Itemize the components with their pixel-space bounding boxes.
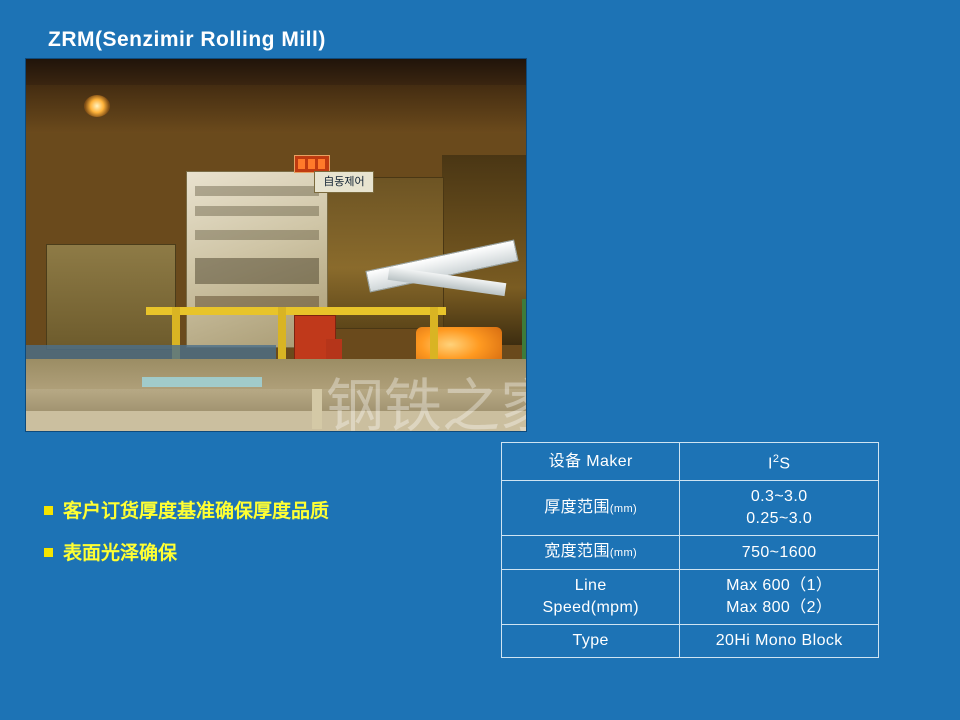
cell-text-line1: Line bbox=[506, 575, 675, 597]
bullet-marker-icon bbox=[44, 506, 53, 515]
table-cell-value: Max 600（1） Max 800（2） bbox=[680, 570, 879, 625]
table-cell-label: 设备 Maker bbox=[502, 443, 680, 481]
photo-ceiling-dark bbox=[26, 59, 526, 85]
cell-text: Max 800（2） bbox=[684, 597, 874, 619]
table-cell-label: Type bbox=[502, 625, 680, 658]
photo-pole bbox=[312, 389, 322, 429]
table-cell-value: 20Hi Mono Block bbox=[680, 625, 879, 658]
table-cell-value: 750~1600 bbox=[680, 536, 879, 570]
photo-cyan-strip bbox=[142, 377, 262, 387]
page-title: ZRM(Senzimir Rolling Mill) bbox=[48, 28, 326, 52]
photo-lamp-glow bbox=[84, 95, 110, 117]
photo-machine-left bbox=[46, 244, 176, 350]
bullet-marker-icon bbox=[44, 548, 53, 557]
table-row: Line Speed(mpm) Max 600（1） Max 800（2） bbox=[502, 570, 879, 625]
photo-yellow-rail bbox=[146, 307, 446, 315]
cell-text: 厚度范围 bbox=[544, 499, 610, 516]
cell-unit: (mm) bbox=[610, 503, 637, 515]
cell-text: Max 600（1） bbox=[684, 575, 874, 597]
table-cell-value: I2S bbox=[680, 443, 879, 481]
table-cell-value: 0.3~3.0 0.25~3.0 bbox=[680, 481, 879, 536]
watermark: 钢铁之家 bbox=[326, 359, 527, 432]
cell-text: 0.25~3.0 bbox=[684, 508, 874, 530]
table-cell-label: 厚度范围(mm) bbox=[502, 481, 680, 536]
table-row: Type 20Hi Mono Block bbox=[502, 625, 879, 658]
zrm-rolling-mill-photo: 自동제어 钢铁之家 steelhome 20 _ 1:18PM 8204 220… bbox=[25, 58, 527, 432]
list-item: 表面光泽确保 bbox=[44, 540, 474, 566]
table-cell-label: 宽度范围(mm) bbox=[502, 536, 680, 570]
table-row: 宽度范围(mm) 750~1600 bbox=[502, 536, 879, 570]
spec-table: 设备 Maker I2S 厚度范围(mm) 0.3~3.0 0.25~3.0 宽… bbox=[501, 442, 879, 658]
cell-text-line2: Speed(mpm) bbox=[506, 597, 675, 619]
bullet-list: 客户订货厚度基准确保厚度品质 表面光泽确保 bbox=[44, 498, 474, 582]
photo-rail-post bbox=[430, 307, 438, 367]
bullet-text: 表面光泽确保 bbox=[63, 540, 177, 566]
table-row: 厚度范围(mm) 0.3~3.0 0.25~3.0 bbox=[502, 481, 879, 536]
cell-unit: (mm) bbox=[610, 547, 637, 559]
list-item: 客户订货厚度基准确保厚度品质 bbox=[44, 498, 474, 524]
table-row: 设备 Maker I2S bbox=[502, 443, 879, 481]
photo-signboard: 自동제어 bbox=[314, 171, 374, 193]
table-cell-label: Line Speed(mpm) bbox=[502, 570, 680, 625]
cell-text: 0.3~3.0 bbox=[684, 486, 874, 508]
cell-text: 设备 Maker bbox=[549, 453, 633, 470]
cell-text: 宽度范围 bbox=[544, 543, 610, 560]
bullet-text: 客户订货厚度基准确保厚度品质 bbox=[63, 498, 329, 524]
